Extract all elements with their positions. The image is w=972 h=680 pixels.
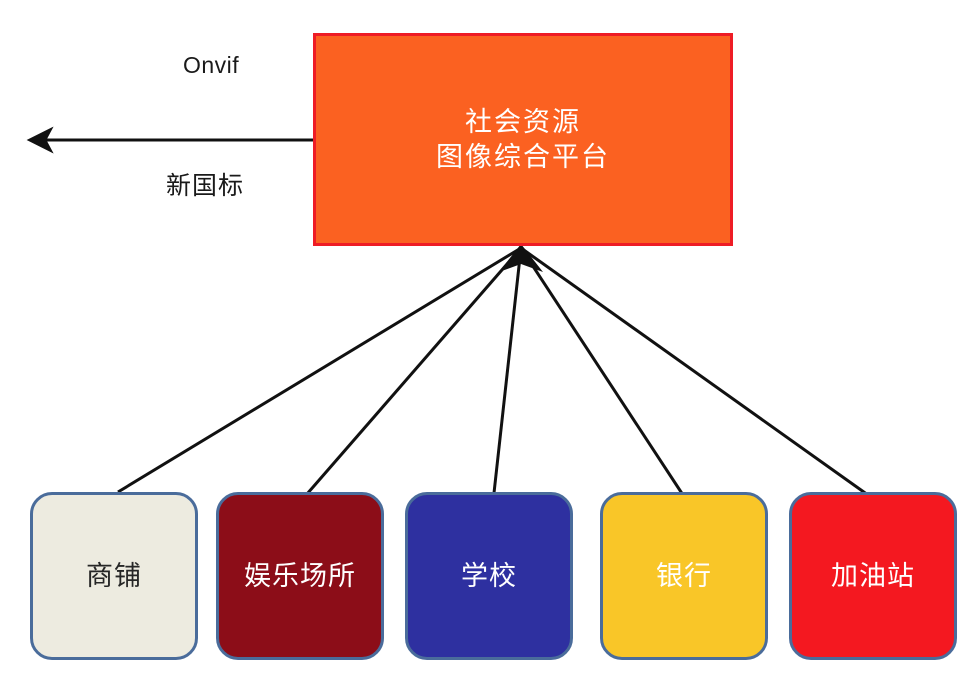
leaf-node-shop[interactable]: 商铺 (30, 492, 198, 660)
diagram-canvas: 社会资源 图像综合平台 Onvif 新国标 商铺 娱乐场所 学校 银行 加油站 (0, 0, 972, 680)
leaf-node-school[interactable]: 学校 (405, 492, 573, 660)
connector-leaf-2 (494, 248, 521, 493)
connector-leaf-1 (307, 248, 521, 494)
leaf-node-label: 娱乐场所 (230, 560, 370, 593)
leaf-node-gas-station[interactable]: 加油站 (789, 492, 957, 660)
leaf-node-label: 银行 (642, 560, 726, 593)
platform-title-line-1: 社会资源 (465, 105, 581, 140)
leaf-node-label: 加油站 (817, 560, 929, 593)
connector-leaf-3 (521, 248, 683, 495)
hub-arrowhead-icon (499, 244, 543, 272)
platform-title-line-2: 图像综合平台 (436, 140, 610, 175)
leaf-node-label: 商铺 (72, 560, 156, 593)
connector-leaf-4 (521, 248, 868, 495)
leaf-node-entertainment-venue[interactable]: 娱乐场所 (216, 492, 384, 660)
leaf-node-bank[interactable]: 银行 (600, 492, 768, 660)
platform-node[interactable]: 社会资源 图像综合平台 (313, 33, 733, 246)
outbound-label-onvif: Onvif (183, 52, 239, 79)
leaf-node-label: 学校 (447, 560, 531, 593)
outbound-label-new-national-standard: 新国标 (166, 166, 244, 202)
connector-leaf-0 (118, 248, 521, 492)
